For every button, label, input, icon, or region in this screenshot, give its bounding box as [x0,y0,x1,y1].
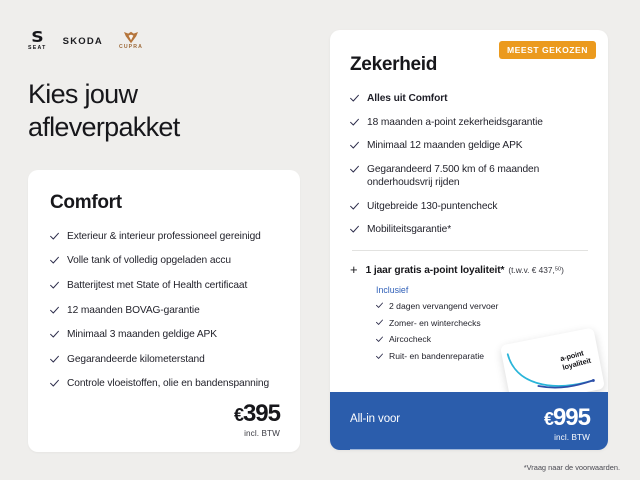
comfort-price: €395 [50,402,280,426]
check-icon [376,302,383,309]
list-item: Minimaal 3 maanden geldige APK [50,328,280,342]
feature-text: 12 maanden BOVAG-garantie [67,304,200,318]
footer-underline [350,449,560,450]
check-icon [350,225,359,234]
page-title-line2: afleverpakket [28,112,180,142]
loyalty-addon-row: + 1 jaar gratis a-point loyaliteit*(t.w.… [350,265,590,276]
skoda-logo: SKODA [63,36,103,47]
zekerheid-price: €995 [544,406,590,430]
list-item: Zomer- en winterchecks [376,318,590,329]
included-text: 2 dagen vervangend vervoer [389,301,498,312]
list-item: 18 maanden a-point zekerheidsgarantie [350,116,590,130]
list-item: Uitgebreide 130-puntencheck [350,200,590,214]
check-icon [50,232,59,241]
included-text: Zomer- en winterchecks [389,318,481,329]
comfort-package-card[interactable]: Comfort Exterieur & interieur profession… [28,170,300,452]
list-item: Minimaal 12 maanden geldige APK [350,139,590,153]
left-column: S SEAT SKODA CUPRA Kies jouw afleverpakk… [0,0,330,480]
loyalty-value-suffix: ) [561,265,564,275]
check-icon [376,336,383,343]
feature-text: Controle vloeistoffen, olie en bandenspa… [67,377,269,391]
list-item: Exterieur & interieur professioneel gere… [50,230,280,244]
brand-logo-row: S SEAT SKODA CUPRA [28,30,314,52]
list-item: Batterijtest met State of Health certifi… [50,279,280,293]
included-text: Aircocheck [389,334,431,345]
check-icon [350,118,359,127]
comfort-vat-note: incl. BTW [50,429,280,438]
feature-text: Minimaal 12 maanden geldige APK [367,139,522,153]
right-column: MEEST GEKOZEN Zekerheid Alles uit Comfor… [330,0,640,480]
feature-text: Alles uit Comfort [367,92,447,106]
status-badge: MEEST GEKOZEN [499,41,596,59]
included-text: Ruit- en bandenreparatie [389,351,484,362]
cupra-tribal-icon [123,31,139,44]
zekerheid-feature-list: Alles uit Comfort 18 maanden a-point zek… [350,92,590,237]
feature-text: Gegarandeerde kilometerstand [67,353,205,367]
comfort-feature-list: Exterieur & interieur professioneel gere… [50,230,280,391]
check-icon [50,306,59,315]
section-divider [352,250,588,251]
list-item: Gegarandeerde kilometerstand [50,353,280,367]
seat-logo-label: SEAT [28,46,47,51]
loyalty-title: 1 jaar gratis a-point loyaliteit* [366,265,505,276]
zekerheid-body: Zekerheid Alles uit Comfort 18 maanden a… [330,30,608,362]
check-icon [350,141,359,150]
page-title: Kies jouw afleverpakket [28,78,314,144]
list-item: 12 maanden BOVAG-garantie [50,304,280,318]
feature-text: Uitgebreide 130-puntencheck [367,200,497,214]
list-item: Controle vloeistoffen, olie en bandenspa… [50,377,280,391]
check-icon [50,330,59,339]
feature-text: Mobiliteitsgarantie* [367,223,451,237]
feature-text: Exterieur & interieur professioneel gere… [67,230,261,244]
plus-icon: + [350,264,358,276]
check-icon [50,355,59,364]
zekerheid-price-footer: All-in voor €995 incl. BTW [330,392,608,450]
feature-text: Gegarandeerd 7.500 km of 6 maanden onder… [367,163,590,190]
feature-text: 18 maanden a-point zekerheidsgarantie [367,116,543,130]
check-icon [350,94,359,103]
list-item: 2 dagen vervangend vervoer [376,301,590,312]
list-item: Alles uit Comfort [350,92,590,106]
cupra-logo-label: CUPRA [119,45,143,50]
check-icon [50,379,59,388]
list-item: Gegarandeerd 7.500 km of 6 maanden onder… [350,163,590,190]
feature-text: Volle tank of volledig opgeladen accu [67,254,231,268]
comfort-title: Comfort [50,192,280,214]
check-icon [50,256,59,265]
comfort-price-value: 395 [243,400,280,427]
zekerheid-price-block: €995 incl. BTW [544,406,590,442]
loyalty-value: (t.w.v. € 437,50) [508,265,563,275]
cupra-logo: CUPRA [119,31,143,50]
page-title-line1: Kies jouw [28,79,137,109]
promo-page: S SEAT SKODA CUPRA Kies jouw afleverpakk… [0,0,640,480]
list-item: Volle tank of volledig opgeladen accu [50,254,280,268]
seat-logo: S SEAT [28,30,47,51]
comfort-price-block: €395 incl. BTW [50,402,280,438]
included-label: Inclusief [376,285,590,295]
feature-text: Minimaal 3 maanden geldige APK [67,328,217,342]
check-icon [376,353,383,360]
list-item: Mobiliteitsgarantie* [350,223,590,237]
check-icon [376,319,383,326]
footer-row: All-in voor €995 incl. BTW [350,406,590,442]
seat-mark-icon: S [32,30,43,45]
zekerheid-vat-note: incl. BTW [544,433,590,442]
currency-symbol: € [544,409,553,429]
footnote: *Vraag naar de voorwaarden. [524,463,620,472]
all-in-label: All-in voor [350,406,400,425]
zekerheid-price-value: 995 [553,404,590,431]
check-icon [350,202,359,211]
feature-text: Batterijtest met State of Health certifi… [67,279,247,293]
check-icon [350,165,359,174]
check-icon [50,281,59,290]
zekerheid-package-card[interactable]: MEEST GEKOZEN Zekerheid Alles uit Comfor… [330,30,608,450]
currency-symbol: € [234,405,243,425]
loyalty-value-prefix: (t.w.v. € 437, [508,265,554,275]
